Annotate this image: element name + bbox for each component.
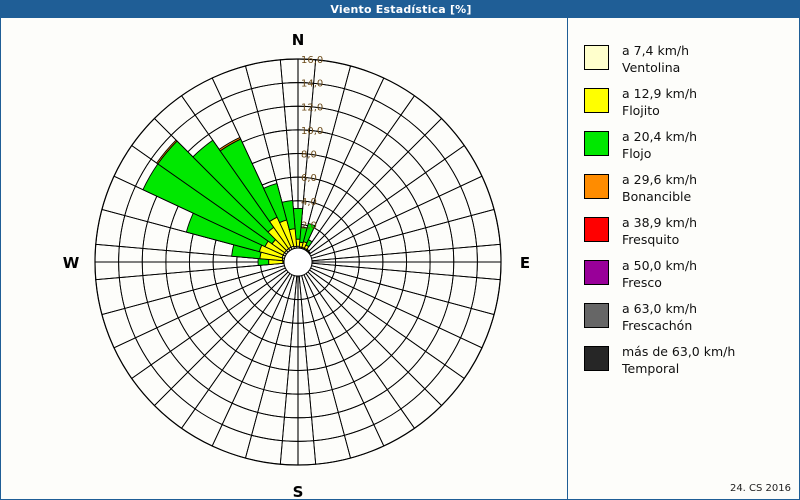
grid-cell (387, 372, 425, 409)
grid-cell (242, 360, 270, 389)
grid-cell (360, 154, 391, 186)
grid-cell (264, 367, 289, 394)
grid-cell (249, 312, 272, 339)
wind-rose-plot-area: 2,04,06,08,010,012,014,016,0NESW (1, 18, 567, 499)
legend-color-swatch (584, 260, 609, 285)
grid-cell (461, 308, 495, 347)
grid-cell (151, 351, 188, 389)
grid-cell (344, 142, 374, 173)
legend-category-name: Bonancible (622, 189, 697, 206)
legend-color-swatch (584, 346, 609, 371)
grid-cell (135, 328, 170, 365)
grid-cell (222, 403, 257, 435)
grid-cell (326, 134, 354, 163)
legend-item[interactable]: a 29,6 km/hBonancible (584, 172, 697, 205)
grid-cell (305, 344, 326, 370)
grid-cell (418, 296, 449, 328)
grid-cell (375, 324, 407, 355)
grid-cell (347, 322, 375, 351)
grid-cell (228, 297, 254, 322)
radial-tick-label: 10,0 (301, 126, 323, 137)
grid-cell (209, 370, 242, 403)
grid-cell (426, 274, 454, 303)
grid-cell (334, 332, 360, 361)
legend-speed-range: a 12,9 km/h (622, 86, 697, 103)
compass-label-north: N (292, 31, 305, 49)
grid-cell (166, 271, 193, 296)
grid-cell (307, 367, 332, 394)
grid-cell (344, 66, 383, 100)
grid-cell (258, 390, 287, 418)
radial-tick-label: 4,0 (301, 197, 317, 208)
grid-cell (267, 270, 288, 289)
legend-item[interactable]: más de 63,0 km/hTemporal (584, 344, 735, 377)
grid-cell (375, 216, 403, 240)
wind-rose-window: Viento Estadística [%] 2,04,06,08,010,01… (0, 0, 800, 500)
legend-speed-range: a 38,9 km/h (622, 215, 697, 232)
grid-cell (332, 112, 364, 143)
legend-panel: a 7,4 km/hVentolinaa 12,9 km/hFlojitoa 2… (567, 18, 799, 499)
radial-tick-label: 8,0 (301, 150, 317, 161)
grid-cell (324, 185, 347, 212)
grid-cell (375, 169, 407, 200)
legend-color-swatch (584, 174, 609, 199)
grid-cell (403, 228, 430, 253)
grid-cell (178, 308, 209, 338)
grid-cell (334, 265, 359, 278)
grid-cell (222, 351, 252, 382)
grid-cell (426, 222, 454, 251)
grid-cell (205, 339, 236, 371)
grid-cell (354, 370, 387, 403)
grid-cell (193, 284, 221, 308)
grid-cell (364, 99, 401, 134)
grid-cell (308, 235, 329, 254)
legend-label: a 12,9 km/hFlojito (622, 86, 697, 119)
legend-speed-range: a 7,4 km/h (622, 43, 689, 60)
grid-cell (170, 290, 199, 318)
grid-cell (425, 365, 464, 406)
grid-cell (154, 389, 195, 428)
grid-cell (212, 66, 251, 100)
legend-item[interactable]: a 38,9 km/hFresquito (584, 215, 697, 248)
wind-rose-chart: 2,04,06,08,010,012,014,016,0NESW (1, 18, 567, 499)
legend-label: más de 63,0 km/hTemporal (622, 344, 735, 377)
grid-cell (200, 298, 229, 324)
legend-speed-range: a 50,0 km/h (622, 258, 697, 275)
legend-speed-range: a 20,4 km/h (622, 129, 697, 146)
grid-cell (387, 115, 425, 152)
legend-category-name: Fresco (622, 275, 697, 292)
window-title: Viento Estadística [%] (330, 3, 471, 16)
legend-label: a 38,9 km/hFresquito (622, 215, 697, 248)
grid-cell (426, 159, 461, 196)
grid-cell (344, 351, 374, 382)
legend-category-name: Flojo (622, 146, 697, 163)
legend-item[interactable]: a 63,0 km/hFrescachón (584, 301, 697, 334)
legend-category-name: Frescachón (622, 318, 697, 335)
grid-cell (368, 200, 397, 226)
grid-cell (102, 308, 136, 347)
polar-grid (95, 59, 501, 465)
grid-cell (308, 270, 329, 289)
grid-cell (232, 382, 264, 413)
radial-tick-label: 12,0 (301, 102, 323, 113)
grid-cell (311, 266, 335, 278)
grid-cell (143, 274, 171, 303)
grid-cell (380, 234, 406, 255)
grid-cell (171, 372, 209, 409)
grid-cell (461, 176, 495, 215)
grid-cell (311, 246, 335, 258)
grid-cell (354, 121, 387, 154)
grid-cell (408, 135, 445, 173)
grid-cell (396, 290, 425, 318)
grid-cell (190, 269, 216, 290)
grid-cell (306, 272, 325, 293)
grid-cell (360, 339, 391, 371)
grid-cell (222, 89, 257, 121)
compass-label-south: S (293, 483, 304, 499)
grid-cell (406, 318, 439, 351)
grid-cell (221, 322, 249, 351)
legend-color-swatch (584, 45, 609, 70)
legend-label: a 63,0 km/hFrescachón (622, 301, 697, 334)
grid-cell (387, 308, 418, 338)
grid-cell (401, 96, 442, 135)
grid-cell (347, 173, 375, 202)
legend-item[interactable]: a 20,4 km/hFlojo (584, 129, 697, 162)
grid-cell (326, 360, 354, 389)
grid-cell (213, 267, 238, 284)
grid-cell (154, 96, 195, 135)
grid-cell (310, 390, 339, 418)
grid-cell (143, 222, 171, 251)
legend-color-swatch (584, 303, 609, 328)
grid-cell (406, 173, 439, 206)
grid-cell (439, 302, 471, 337)
grid-cell (380, 269, 406, 290)
legend-category-name: Flojito (622, 103, 697, 120)
grid-cell (320, 339, 344, 367)
radial-tick-label: 16,0 (301, 55, 323, 66)
grid-cell (262, 266, 286, 278)
grid-cell (264, 130, 289, 157)
grid-cell (125, 302, 157, 337)
legend-color-swatch (584, 131, 609, 156)
grid-cell (408, 351, 445, 389)
legend-label: a 50,0 km/hFresco (622, 258, 697, 291)
legend-color-swatch (584, 88, 609, 113)
grid-cell (170, 338, 204, 372)
grid-cell (426, 328, 461, 365)
grid-cell (425, 118, 464, 159)
radial-tick-label: 6,0 (301, 173, 317, 184)
footer-credit: 24. CS 2016 (730, 483, 791, 494)
grid-cell (270, 344, 291, 370)
grid-cell (358, 311, 387, 339)
grid-cell (338, 89, 373, 121)
grid-cell (282, 275, 294, 299)
grid-cell (209, 311, 238, 339)
grid-cell (212, 425, 251, 459)
grid-cell (157, 318, 190, 351)
grid-cell (348, 288, 375, 311)
grid-cell (358, 185, 387, 213)
legend-color-swatch (584, 217, 609, 242)
radial-tick-label: 2,0 (301, 220, 317, 231)
grid-cell (132, 365, 171, 406)
grid-cell (338, 403, 373, 435)
legend-label: a 29,6 km/hBonancible (622, 172, 697, 205)
grid-cell (439, 186, 471, 221)
grid-cell (401, 389, 442, 428)
grid-cell (282, 298, 295, 323)
window-title-bar: Viento Estadística [%] (1, 1, 800, 18)
legend-category-name: Ventolina (622, 60, 689, 77)
compass-label-east: E (520, 254, 530, 272)
grid-cell (387, 186, 418, 216)
legend-label: a 20,4 km/hFlojo (622, 129, 697, 162)
grid-cell (258, 107, 287, 135)
grid-cell (396, 206, 425, 234)
grid-cell (102, 176, 136, 215)
grid-cell (271, 272, 290, 293)
grid-cell (344, 425, 383, 459)
grid-cell (364, 390, 401, 425)
grid-cell (374, 355, 408, 389)
compass-label-west: W (63, 254, 80, 272)
grid-cell (374, 134, 408, 168)
grid-cell (391, 152, 425, 186)
grid-cell (270, 154, 291, 180)
grid-cell (195, 390, 232, 425)
legend-item[interactable]: a 12,9 km/hFlojito (584, 86, 697, 119)
grid-cell (195, 99, 232, 134)
grid-cell (341, 202, 367, 227)
legend-speed-range: a 63,0 km/h (622, 301, 697, 318)
grid-cell (403, 271, 430, 296)
legend-category-name: Fresquito (622, 232, 697, 249)
grid-cell (391, 338, 425, 372)
grid-cell (302, 275, 314, 299)
legend-label: a 7,4 km/hVentolina (622, 43, 689, 76)
grid-cell (188, 355, 222, 389)
legend-speed-range: más de 63,0 km/h (622, 344, 735, 361)
legend-speed-range: a 29,6 km/h (622, 172, 697, 189)
grid-cell (333, 305, 358, 331)
grid-cell (357, 240, 382, 257)
grid-cell (303, 321, 320, 346)
legend-item[interactable]: a 50,0 km/hFresco (584, 258, 697, 291)
grid-cell (190, 324, 222, 355)
radial-tick-label: 14,0 (301, 79, 323, 90)
legend-category-name: Temporal (622, 361, 735, 378)
legend-item[interactable]: a 7,4 km/hVentolina (584, 43, 689, 76)
